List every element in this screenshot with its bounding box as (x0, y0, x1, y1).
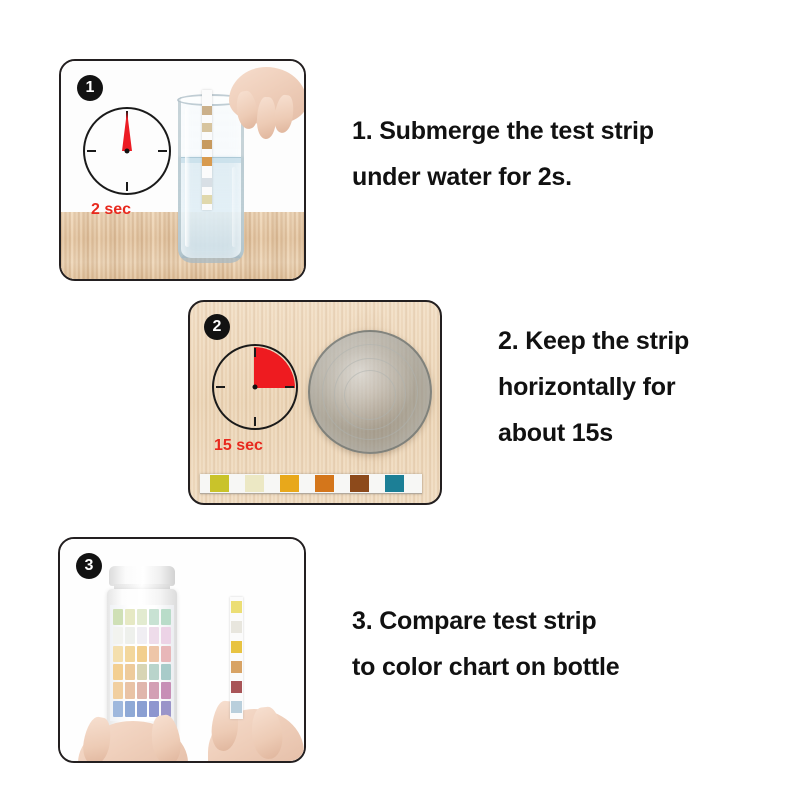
chart-swatch (113, 646, 123, 662)
strip-pad-3 (202, 140, 212, 149)
strip-pad-6 (231, 701, 242, 713)
step-1-panel: 2 sec 1 (59, 59, 306, 281)
strip-pad-1 (231, 601, 242, 613)
chart-swatch (149, 682, 159, 698)
chart-swatch (149, 646, 159, 662)
chart-swatch (149, 701, 159, 717)
clock-tick-12 (254, 348, 256, 357)
step-1-instruction: 1. Submerge the test strip under water f… (352, 108, 752, 200)
timer-label-2sec: 2 sec (91, 201, 131, 219)
glass-dish (308, 330, 432, 454)
chart-swatch (161, 646, 171, 662)
chart-swatch (137, 701, 147, 717)
strip-pad-5 (202, 178, 212, 187)
timer-clock-15sec (212, 344, 298, 430)
clock-tick-9 (87, 150, 96, 152)
chart-swatch (113, 609, 123, 625)
chart-swatch (125, 664, 135, 680)
step-3-instruction: 3. Compare test strip to color chart on … (352, 598, 772, 690)
strip-pad-2 (231, 621, 242, 633)
glass-highlight-right (232, 167, 236, 247)
chart-swatch (125, 627, 135, 643)
strip-pad-4 (231, 661, 242, 673)
glass-highlight (185, 107, 190, 247)
clock-tick-3 (285, 386, 294, 388)
step-2-badge: 2 (204, 314, 230, 340)
step-3-panel: 3 (58, 537, 306, 763)
chart-swatch (137, 627, 147, 643)
strip-pad-5 (231, 681, 242, 693)
timer-wedge (122, 111, 132, 151)
clock-tick-6 (126, 182, 128, 191)
strip-pad-5 (350, 475, 369, 492)
strip-pad-1 (210, 475, 229, 492)
timer-wedge-quarter (254, 347, 295, 388)
strip-pad-6 (385, 475, 404, 492)
chart-swatch (137, 682, 147, 698)
strip-pad-4 (202, 157, 212, 166)
strip-pad-4 (315, 475, 334, 492)
chart-swatch (125, 646, 135, 662)
used-test-strip (230, 597, 243, 719)
chart-swatch (113, 627, 123, 643)
clock-center-hub (253, 385, 258, 390)
timer-label-15sec: 15 sec (214, 437, 263, 455)
chart-swatch (137, 609, 147, 625)
clock-tick-3 (158, 150, 167, 152)
step-2-panel: 15 sec 2 (188, 300, 442, 505)
dish-inner-ring-3 (344, 370, 396, 420)
chart-swatch (149, 627, 159, 643)
step-3-badge: 3 (76, 553, 102, 579)
chart-swatch (161, 664, 171, 680)
strip-pad-3 (280, 475, 299, 492)
test-strip-horizontal (200, 474, 422, 494)
chart-swatch (113, 701, 123, 717)
chart-swatch (125, 701, 135, 717)
bottle-cap (109, 566, 175, 586)
chart-swatch (137, 646, 147, 662)
step-2-instruction: 2. Keep the strip horizontally for about… (498, 318, 778, 456)
clock-center-hub (125, 149, 130, 154)
chart-swatch (125, 682, 135, 698)
strip-pad-1 (202, 106, 212, 115)
chart-swatch (137, 664, 147, 680)
chart-swatch (113, 664, 123, 680)
chart-swatch (161, 682, 171, 698)
test-strip-dipping (202, 90, 212, 210)
chart-swatch (161, 627, 171, 643)
chart-swatch (149, 609, 159, 625)
chart-swatch (161, 609, 171, 625)
clock-tick-6 (254, 417, 256, 426)
strip-pad-6 (202, 195, 212, 204)
chart-swatch (113, 682, 123, 698)
timer-clock-2sec (83, 107, 171, 195)
strip-pad-2 (202, 123, 212, 132)
step-1-badge: 1 (77, 75, 103, 101)
strip-pad-3 (231, 641, 242, 653)
clock-tick-9 (216, 386, 225, 388)
strip-pad-2 (245, 475, 264, 492)
chart-swatch (149, 664, 159, 680)
chart-swatch (125, 609, 135, 625)
bottle-color-chart-label (110, 605, 174, 721)
